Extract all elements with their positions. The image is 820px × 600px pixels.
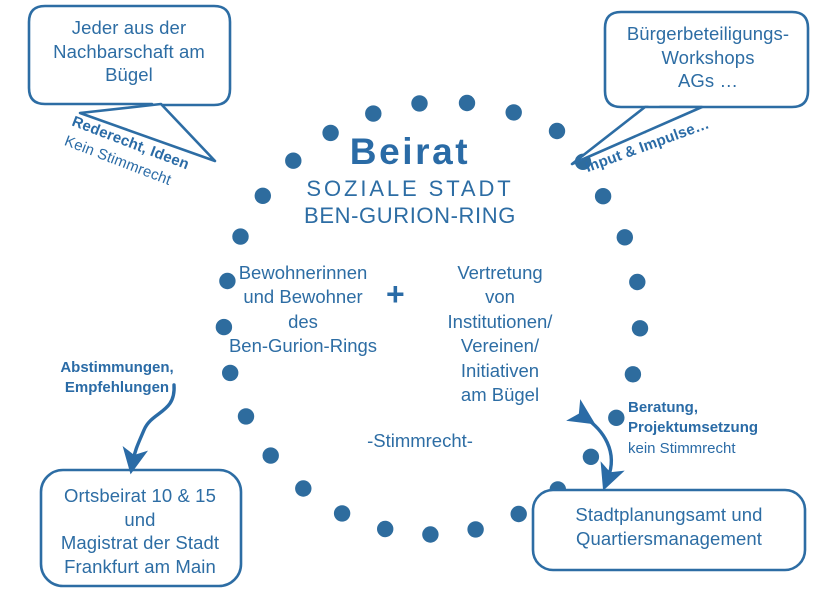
center-subtitle-line2: BEN-GURION-RING: [250, 203, 570, 229]
box-bottom-left-text: Ortsbeirat 10 & 15 und Magistrat der Sta…: [42, 484, 238, 579]
center-title: Beirat: [250, 131, 570, 173]
center-subtitle-line1: SOZIALE STADT: [250, 176, 570, 202]
label-abstimmungen-empfehlungen: Abstimmungen, Empfehlungen: [42, 358, 192, 399]
diagram-canvas: Jeder aus der Nachbarschaft am Bügel Bür…: [0, 0, 820, 600]
label-beratung-line1: Beratung,: [628, 398, 790, 418]
label-beratung-projektumsetzung: Beratung, Projektumsetzung kein Stimmrec…: [628, 398, 790, 459]
label-beratung-line2: Projektumsetzung: [628, 418, 790, 438]
box-bottom-right-text: Stadtplanungsamt und Quartiersmanagement: [536, 503, 802, 550]
label-input-impulse: Input & Impulse…: [583, 115, 712, 176]
label-beratung-line3: kein Stimmrecht: [628, 439, 790, 459]
plus-icon: +: [386, 278, 405, 310]
label-rederecht-ideen: Rederecht, Ideen Kein Stimmrecht: [61, 112, 192, 195]
center-footer-stimmrecht: -Stimmrecht-: [300, 430, 540, 452]
bubble-top-left-text: Jeder aus der Nachbarschaft am Bügel: [34, 16, 224, 87]
center-column-left: Bewohnerinnen und Bewohner des Ben-Gurio…: [212, 261, 394, 359]
arrow-beratung: [584, 417, 611, 478]
bubble-top-right-text: Bürgerbeteiligungs- Workshops AGs …: [610, 22, 806, 93]
center-column-right: Vertretung von Institutionen/ Vereinen/ …: [420, 261, 580, 407]
